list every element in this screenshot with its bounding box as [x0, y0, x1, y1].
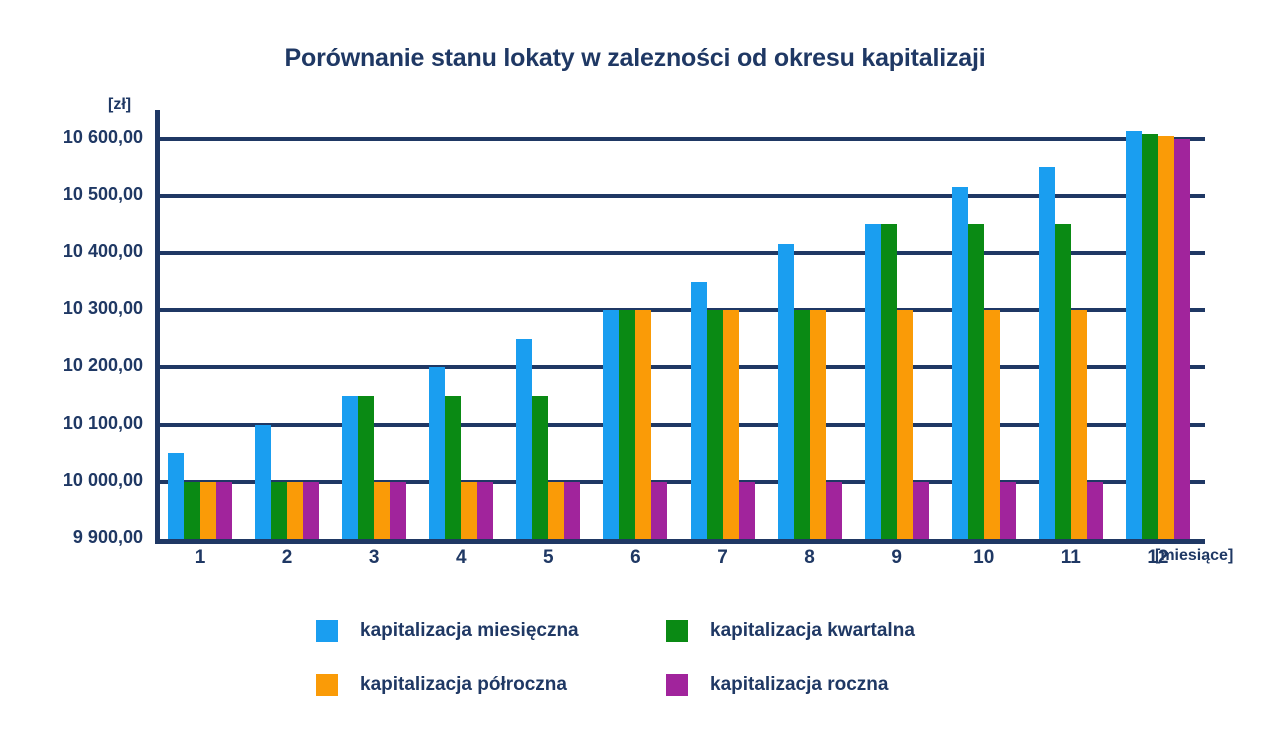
bar[interactable] [984, 310, 1000, 539]
y-axis-tick-label: 10 000,00 [23, 470, 143, 491]
bar[interactable] [897, 310, 913, 539]
bar[interactable] [548, 482, 564, 539]
bar[interactable] [603, 310, 619, 539]
bar[interactable] [200, 482, 216, 539]
bar[interactable] [810, 310, 826, 539]
x-axis-tick-label: 11 [1041, 547, 1101, 569]
legend-item[interactable]: kapitalizacja miesięczna [316, 620, 666, 642]
x-axis-tick-label: 1 [170, 547, 230, 569]
bar[interactable] [216, 482, 232, 539]
x-axis-tick-label: 2 [257, 547, 317, 569]
bar[interactable] [461, 482, 477, 539]
bar[interactable] [445, 396, 461, 539]
x-axis-tick-label: 9 [867, 547, 927, 569]
bar[interactable] [532, 396, 548, 539]
bar[interactable] [390, 482, 406, 539]
legend-swatch-icon [316, 620, 338, 642]
legend-row: kapitalizacja półrocznakapitalizacja roc… [316, 674, 1016, 728]
bar-group [1039, 110, 1103, 539]
y-axis-tick-label: 10 200,00 [23, 355, 143, 376]
bar-group [1126, 110, 1190, 539]
bars-layer [160, 110, 1205, 539]
bar[interactable] [303, 482, 319, 539]
y-axis-tick-label: 10 300,00 [23, 298, 143, 319]
x-axis-tick-label: 8 [780, 547, 840, 569]
bar-group [778, 110, 842, 539]
bar[interactable] [184, 482, 200, 539]
legend-swatch-icon [316, 674, 338, 696]
bar[interactable] [635, 310, 651, 539]
chart-legend: kapitalizacja miesięcznakapitalizacja kw… [316, 620, 1016, 728]
bar[interactable] [968, 224, 984, 539]
bar-group [255, 110, 319, 539]
bar[interactable] [342, 396, 358, 539]
y-axis-tick-label: 10 400,00 [23, 241, 143, 262]
x-axis-tick-label: 5 [518, 547, 578, 569]
x-axis-tick-label: 3 [344, 547, 404, 569]
legend-row: kapitalizacja miesięcznakapitalizacja kw… [316, 620, 1016, 674]
y-axis-tick-label: 10 600,00 [23, 127, 143, 148]
bar[interactable] [913, 482, 929, 539]
bar[interactable] [881, 224, 897, 539]
bar[interactable] [651, 482, 667, 539]
bar[interactable] [287, 482, 303, 539]
bar[interactable] [619, 310, 635, 539]
bar[interactable] [271, 482, 287, 539]
legend-label: kapitalizacja kwartalna [710, 620, 915, 642]
bar[interactable] [723, 310, 739, 539]
legend-item[interactable]: kapitalizacja roczna [666, 674, 1016, 696]
bar[interactable] [255, 425, 271, 539]
bar-group [516, 110, 580, 539]
bar[interactable] [865, 224, 881, 539]
bar[interactable] [516, 339, 532, 539]
chart-root: Porównanie stanu lokaty w zalezności od … [0, 0, 1280, 751]
y-axis-tick-label: 10 500,00 [23, 184, 143, 205]
bar[interactable] [1055, 224, 1071, 539]
bar-group [603, 110, 667, 539]
legend-label: kapitalizacja roczna [710, 674, 888, 696]
bar[interactable] [1000, 482, 1016, 539]
bar[interactable] [1158, 136, 1174, 539]
y-axis-tick-label: 10 100,00 [23, 413, 143, 434]
bar[interactable] [739, 482, 755, 539]
bar[interactable] [564, 482, 580, 539]
x-axis-tick-label: 4 [431, 547, 491, 569]
y-axis-unit-label: [zł] [108, 96, 131, 114]
bar-group [952, 110, 1016, 539]
bar[interactable] [1071, 310, 1087, 539]
bar[interactable] [952, 187, 968, 539]
bar[interactable] [374, 482, 390, 539]
bar[interactable] [794, 310, 810, 539]
bar[interactable] [168, 453, 184, 539]
legend-label: kapitalizacja miesięczna [360, 620, 579, 642]
bar-group [429, 110, 493, 539]
x-axis-tick-label: 7 [693, 547, 753, 569]
legend-item[interactable]: kapitalizacja kwartalna [666, 620, 1016, 642]
bar[interactable] [1174, 139, 1190, 539]
bar[interactable] [1126, 131, 1142, 539]
bar[interactable] [1039, 167, 1055, 539]
bar[interactable] [691, 282, 707, 539]
bar[interactable] [477, 482, 493, 539]
bar[interactable] [1142, 134, 1158, 539]
bar[interactable] [707, 310, 723, 539]
x-axis-line [155, 539, 1205, 544]
plot-area [155, 110, 1205, 544]
legend-item[interactable]: kapitalizacja półroczna [316, 674, 666, 696]
bar[interactable] [778, 244, 794, 539]
bar-group [342, 110, 406, 539]
bar-group [691, 110, 755, 539]
bar[interactable] [1087, 482, 1103, 539]
y-axis-tick-label: 9 900,00 [23, 527, 143, 548]
bar[interactable] [358, 396, 374, 539]
legend-swatch-icon [666, 674, 688, 696]
legend-swatch-icon [666, 620, 688, 642]
x-axis-tick-label: 10 [954, 547, 1014, 569]
bar-group [168, 110, 232, 539]
bar[interactable] [826, 482, 842, 539]
legend-label: kapitalizacja półroczna [360, 674, 567, 696]
page-title: Porównanie stanu lokaty w zalezności od … [0, 44, 1270, 73]
bar-group [865, 110, 929, 539]
x-axis-tick-label: 6 [605, 547, 665, 569]
x-axis-tick-label: 12 [1128, 547, 1188, 569]
bar[interactable] [429, 367, 445, 539]
